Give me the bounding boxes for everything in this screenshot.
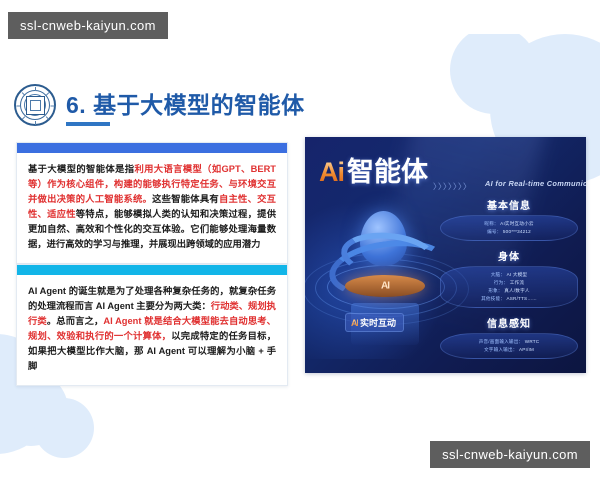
info-row-key: 大脑： — [491, 272, 505, 277]
card-accent-bar — [17, 143, 287, 153]
chevron-decoration-icon: 〉〉〉〉〉〉〉 — [433, 181, 472, 192]
info-group: 身体 大脑： AI 大模型行为： 工作流形象： 真人/数字人其他技能： ASR/… — [440, 248, 578, 308]
info-row: 声音/画面输入输出： WRTC — [449, 338, 569, 346]
content-card-agent: AI Agent 的诞生就是为了处理各种复杂任务的，就复杂任务的处理流程而言 A… — [16, 264, 288, 386]
info-group-card: 昵称： AI实时互动小云编号： 500***34212 — [440, 215, 578, 241]
page-heading: 6. 基于大模型的智能体 — [14, 84, 305, 126]
info-row-key: 文字输入输出： — [484, 347, 518, 352]
brand-ai-text: Ai — [319, 159, 344, 186]
info-row-value: ASR/TTS…… — [505, 296, 537, 301]
title-underline — [66, 122, 110, 126]
info-row: 形象： 真人/数字人 — [449, 287, 569, 295]
university-seal-icon — [14, 84, 56, 126]
info-group: 基本信息 昵称： AI实时互动小云编号： 500***34212 — [440, 197, 578, 241]
panel-subtitle: AI for Real-time Communication — [485, 179, 586, 188]
info-stack: 基本信息 昵称： AI实时互动小云编号： 500***34212 身体 大脑： … — [440, 197, 578, 366]
info-row-key: 行为： — [494, 280, 508, 285]
info-row-key: 形象： — [488, 288, 502, 293]
info-row-value: AI实时互动小云 — [499, 221, 534, 226]
info-row-value: AI 大模型 — [505, 272, 527, 277]
decoration-blob-top-right-2 — [450, 26, 538, 114]
panel-brand: Ai 智能体 — [319, 159, 428, 186]
info-row: 文字输入输出： API/IM — [449, 346, 569, 354]
glowing-disc: AI — [345, 275, 425, 297]
disc-ai-label: AI — [381, 281, 389, 292]
content-card-definition: 基于大模型的智能体是指利用大语言模型（如GPT、BERT等）作为核心组件，构建的… — [16, 142, 288, 264]
badge-ai-text: AI — [351, 318, 358, 328]
info-row-key: 编号： — [487, 229, 501, 234]
info-row: 编号： 500***34212 — [449, 228, 569, 236]
info-row: 其他技能： ASR/TTS…… — [449, 295, 569, 303]
info-row-value: WRTC — [523, 339, 539, 344]
realtime-interaction-badge: AI 实时互动 — [345, 313, 404, 332]
body-text: 基于大模型的智能体是指 — [28, 164, 134, 174]
info-row: 大脑： AI 大模型 — [449, 271, 569, 279]
info-group-title: 信息感知 — [440, 315, 578, 330]
page-title: 6. 基于大模型的智能体 — [66, 94, 305, 117]
decoration-blob-left-3 — [34, 398, 94, 458]
info-row-value: API/IM — [518, 347, 534, 352]
brand-cn-text: 智能体 — [347, 159, 428, 186]
watermark-top: ssl-cnweb-kaiyun.com — [8, 12, 168, 39]
info-row-value: 500***34212 — [501, 229, 530, 234]
info-row-value: 工作流 — [508, 280, 524, 285]
info-row: 行为： 工作流 — [449, 279, 569, 287]
info-row-key: 昵称： — [484, 221, 498, 226]
watermark-bottom: ssl-cnweb-kaiyun.com — [430, 441, 590, 468]
info-row-key: 声音/画面输入输出： — [479, 339, 524, 344]
info-group-card: 大脑： AI 大模型行为： 工作流形象： 真人/数字人其他技能： ASR/TTS… — [440, 266, 578, 308]
info-row-key: 其他技能： — [481, 296, 505, 301]
body-text: 。总而言之， — [47, 316, 104, 326]
card-body-agent: AI Agent 的诞生就是为了处理各种复杂任务的，就复杂任务的处理流程而言 A… — [17, 275, 287, 385]
info-row-value: 真人/数字人 — [503, 288, 530, 293]
info-group: 信息感知 声音/画面输入输出： WRTC文字输入输出： API/IM — [440, 315, 578, 359]
info-row: 昵称： AI实时互动小云 — [449, 220, 569, 228]
info-group-card: 声音/画面输入输出： WRTC文字输入输出： API/IM — [440, 333, 578, 359]
info-group-title: 身体 — [440, 248, 578, 263]
info-group-title: 基本信息 — [440, 197, 578, 212]
card-accent-bar — [17, 265, 287, 275]
body-text: 这些智能体具有 — [152, 194, 219, 204]
illustration-panel: Ai 智能体 〉〉〉〉〉〉〉 AI for Real-time Communic… — [305, 137, 586, 373]
card-body-definition: 基于大模型的智能体是指利用大语言模型（如GPT、BERT等）作为核心组件，构建的… — [17, 153, 287, 263]
badge-label: 实时互动 — [360, 316, 396, 329]
